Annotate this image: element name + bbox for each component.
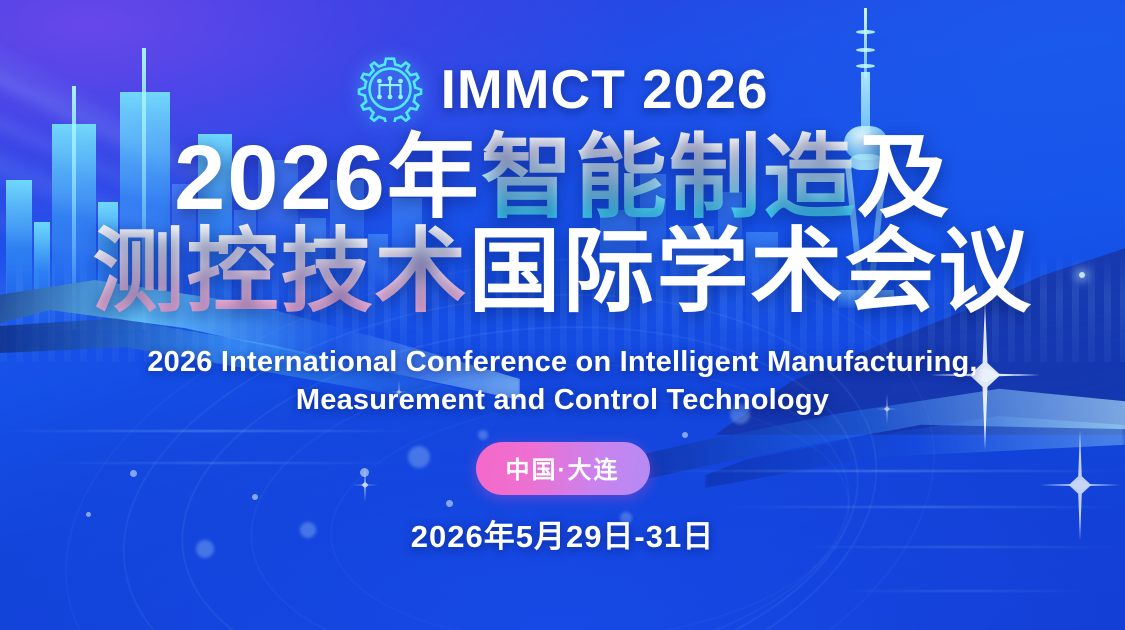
conference-date: 2026年5月29日-31日 [411,511,715,556]
headline-seg-intelligent-manufacturing: 智能制造 [481,127,857,229]
headline-seg-and: 及 [857,127,951,229]
brand-title: IMMCT 2026 [441,62,769,117]
headline-line-2: 测控技术国际学术会议 [92,224,1032,322]
headline-seg-year: 2026年 [174,127,481,229]
gear-circuit-icon [357,56,423,122]
english-subtitle: 2026 International Conference on Intelli… [28,343,1098,420]
english-subtitle-line-2: Measurement and Control Technology [28,381,1098,419]
headline-line-1: 2026年智能制造及 [174,130,951,228]
location-badge: 中国·大连 [476,442,650,495]
english-subtitle-line-1: 2026 International Conference on Intelli… [28,343,1098,381]
headline-seg-measurement-control: 测控技术 [92,221,468,323]
banner-content: IMMCT 2026 2026年智能制造及 测控技术国际学术会议 2026 In… [0,0,1125,630]
headline-seg-international-conference: 国际学术会议 [469,221,1033,323]
conference-banner: IMMCT 2026 2026年智能制造及 测控技术国际学术会议 2026 In… [0,0,1125,630]
brand-row: IMMCT 2026 [357,56,769,122]
